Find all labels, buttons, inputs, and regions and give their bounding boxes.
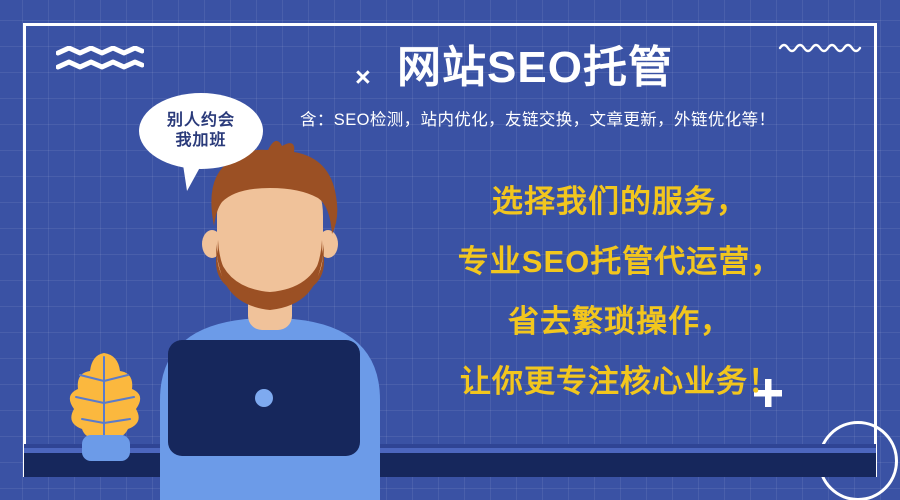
speech-bubble: 别人约会 我加班 [139,93,263,169]
laptop-illustration [0,0,900,500]
seo-promo-banner: 网站SEO托管 含：SEO检测，站内优化，友链交换，文章更新，外链优化等！ × … [0,0,900,500]
speech-bubble-line-2: 我加班 [175,131,226,151]
speech-bubble-line-1: 别人约会 [167,111,235,131]
